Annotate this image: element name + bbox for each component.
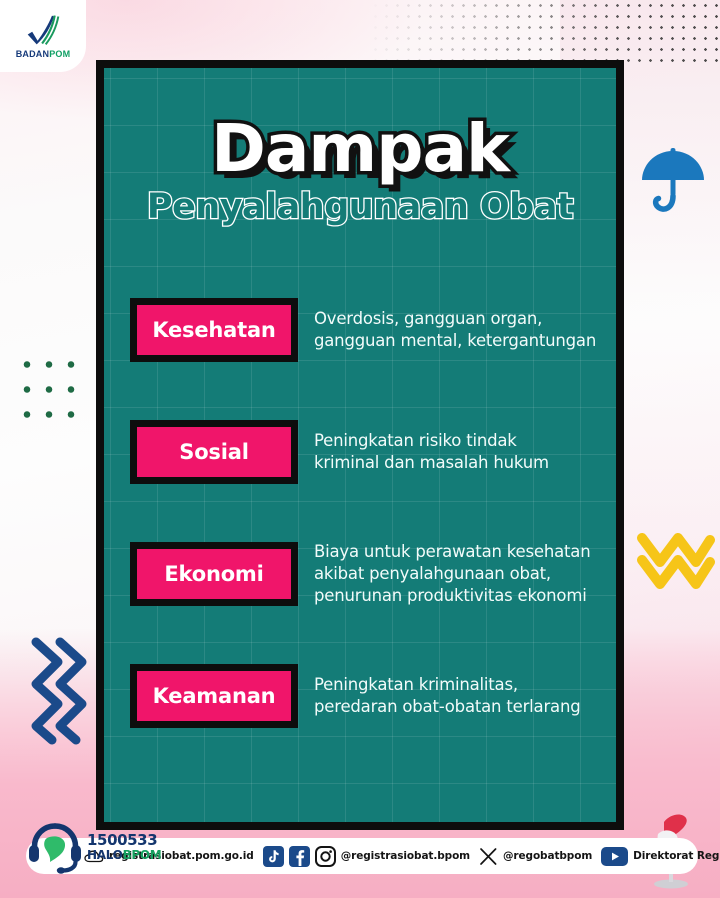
- description-line: penurunan produktivitas ekonomi: [314, 585, 598, 607]
- bpom-logo-badge: BADANPOM: [0, 0, 86, 72]
- description-line: akibat penyalahgunaan obat,: [314, 563, 598, 585]
- x-handle: @regobatbpom: [503, 850, 592, 862]
- bpom-wordmark: BADANPOM: [16, 49, 71, 59]
- dot-grid-icon: [16, 352, 78, 430]
- wordmark-badan: BADAN: [16, 49, 50, 59]
- zigzag-w-icon: [636, 528, 716, 605]
- category-chip-keamanan: Keamanan: [130, 664, 298, 728]
- hotline-label: HALOBPOM: [87, 849, 161, 861]
- instagram-icon[interactable]: [315, 846, 336, 867]
- umbrella-icon: [638, 142, 708, 225]
- page-subtitle: Penyalahgunaan Obat: [147, 190, 573, 225]
- hotline-number-block: 1500533 HALOBPOM: [87, 833, 161, 861]
- halftone-dots-icon: [370, 0, 720, 62]
- chevron-zigzag-icon: [26, 634, 98, 751]
- content-card: Dampak Penyalahgunaan Obat Kesehatan Ove…: [96, 60, 624, 830]
- hotline-badge: 1500533 HALOBPOM: [26, 818, 161, 876]
- description-line: peredaran obat-obatan terlarang: [314, 696, 598, 718]
- category-description: Peningkatan kriminalitas, peredaran obat…: [298, 674, 598, 718]
- bpom-swoosh-icon: [25, 13, 61, 47]
- category-chip-sosial: Sosial: [130, 420, 298, 484]
- hotline-bpom-text: BPOM: [123, 848, 162, 862]
- category-chip-ekonomi: Ekonomi: [130, 542, 298, 606]
- description-line: Overdosis, gangguan organ,: [314, 308, 598, 330]
- poster: BADANPOM Dampak Penyalahgunaan Obat Kese…: [0, 0, 720, 898]
- youtube-icon[interactable]: [601, 847, 628, 866]
- hotline-number: 1500533: [87, 833, 161, 848]
- category-chip-kesehatan: Kesehatan: [130, 298, 298, 362]
- description-line: gangguan mental, ketergantungan: [314, 330, 598, 352]
- headset-icon: [26, 818, 84, 876]
- footer-x[interactable]: @regobatbpom: [479, 847, 592, 866]
- chip-label: Sosial: [179, 440, 248, 464]
- list-item: Sosial Peningkatan risiko tindak krimina…: [104, 391, 616, 513]
- description-line: kriminal dan masalah hukum: [314, 452, 598, 474]
- instagram-handle: @registrasiobat.bpom: [341, 850, 470, 862]
- category-description: Biaya untuk perawatan kesehatan akibat p…: [298, 541, 598, 607]
- youtube-channel: Direktorat Registrasi Obat BPOM: [633, 850, 720, 862]
- list-item: Ekonomi Biaya untuk perawatan kesehatan …: [104, 513, 616, 635]
- footer-social-icons[interactable]: @registrasiobat.bpom: [263, 846, 470, 867]
- page-title: Dampak: [211, 116, 509, 182]
- x-twitter-icon[interactable]: [479, 847, 498, 866]
- chip-label: Kesehatan: [152, 318, 275, 342]
- title-block: Dampak Penyalahgunaan Obat: [104, 68, 616, 225]
- list-item: Kesehatan Overdosis, gangguan organ, gan…: [104, 269, 616, 391]
- category-description: Peningkatan risiko tindak kriminal dan m…: [298, 430, 598, 474]
- category-description: Overdosis, gangguan organ, gangguan ment…: [298, 308, 598, 352]
- description-line: Peningkatan kriminalitas,: [314, 674, 598, 696]
- description-line: Biaya untuk perawatan kesehatan: [314, 541, 598, 563]
- tiktok-icon[interactable]: [263, 846, 284, 867]
- list-item: Keamanan Peningkatan kriminalitas, pered…: [104, 635, 616, 757]
- description-line: Peningkatan risiko tindak: [314, 430, 598, 452]
- impact-list: Kesehatan Overdosis, gangguan organ, gan…: [104, 269, 616, 757]
- facebook-icon[interactable]: [289, 846, 310, 867]
- footer-youtube[interactable]: Direktorat Registrasi Obat BPOM: [601, 847, 720, 866]
- wordmark-pom: POM: [49, 49, 70, 59]
- chip-label: Ekonomi: [164, 562, 263, 586]
- chip-label: Keamanan: [153, 684, 276, 708]
- hotline-halo-text: HALO: [87, 848, 123, 862]
